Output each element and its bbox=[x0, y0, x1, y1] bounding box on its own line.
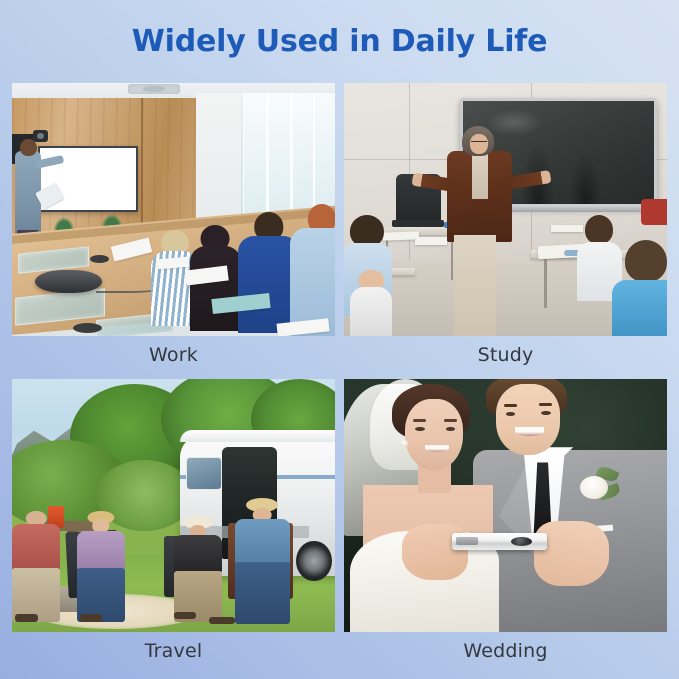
groom-hand bbox=[534, 521, 608, 586]
screen-reflection bbox=[570, 151, 601, 204]
caravan-roof bbox=[180, 430, 335, 443]
student-head bbox=[625, 240, 667, 282]
travel-photo bbox=[12, 379, 335, 632]
device-record-button-icon bbox=[511, 537, 532, 546]
student bbox=[612, 240, 667, 336]
camper-person bbox=[12, 511, 60, 622]
boutonniere bbox=[573, 465, 618, 505]
shoe bbox=[15, 614, 38, 622]
card-label-study: Study bbox=[344, 336, 667, 373]
video-conference-camera-icon bbox=[33, 130, 48, 143]
scenario-card-wedding[interactable]: Wedding bbox=[344, 379, 667, 669]
wedding-photo bbox=[344, 379, 667, 632]
scenario-card-study[interactable]: Study bbox=[344, 83, 667, 373]
card-label-wedding: Wedding bbox=[344, 632, 667, 669]
voice-recorder-device bbox=[452, 533, 547, 550]
bride-eyebrow bbox=[444, 419, 457, 422]
scenario-card-travel[interactable]: Travel bbox=[12, 379, 335, 669]
card-label-work: Work bbox=[12, 336, 335, 373]
bride-eyebrow bbox=[413, 419, 426, 422]
page-title: Widely Used in Daily Life bbox=[132, 24, 548, 59]
attendee bbox=[290, 204, 335, 336]
card-label-travel: Travel bbox=[12, 632, 335, 669]
shoe bbox=[80, 614, 103, 622]
open-book bbox=[415, 237, 447, 245]
desk-leg bbox=[544, 258, 547, 309]
scenario-grid: Work bbox=[0, 83, 679, 679]
groom-smile bbox=[515, 427, 544, 436]
teacher-trousers bbox=[454, 235, 496, 336]
person-torso bbox=[77, 531, 125, 571]
groom-eyebrow bbox=[539, 403, 552, 406]
person-torso bbox=[12, 524, 60, 571]
student-body bbox=[350, 287, 392, 336]
caravan-wheel bbox=[296, 541, 332, 581]
groom-face bbox=[496, 384, 561, 455]
glasses-icon bbox=[471, 141, 487, 145]
shoe bbox=[174, 612, 197, 620]
promo-page: Widely Used in Daily Life bbox=[0, 0, 679, 679]
camper-person bbox=[174, 516, 222, 622]
device-clip bbox=[456, 537, 479, 545]
backpack bbox=[641, 199, 667, 224]
presenter-head bbox=[20, 139, 36, 157]
person-legs bbox=[235, 562, 290, 624]
title-bar: Widely Used in Daily Life bbox=[0, 0, 679, 83]
shoe bbox=[209, 617, 235, 625]
person-torso bbox=[174, 535, 222, 573]
work-photo bbox=[12, 83, 335, 336]
camper-person bbox=[235, 498, 290, 625]
bride-face bbox=[405, 399, 463, 470]
table-microphone-icon bbox=[90, 255, 109, 263]
groom-eye bbox=[506, 412, 516, 416]
office-chair-arm bbox=[392, 220, 444, 228]
conference-speakerphone bbox=[35, 270, 103, 293]
study-photo bbox=[344, 83, 667, 336]
attendee-torso bbox=[190, 246, 242, 331]
scenario-card-work[interactable]: Work bbox=[12, 83, 335, 373]
screen-glare bbox=[486, 109, 543, 136]
student-body bbox=[612, 280, 667, 336]
student-head bbox=[585, 215, 613, 244]
groom-eyebrow bbox=[504, 404, 517, 407]
groom-eye bbox=[541, 411, 551, 415]
person-torso bbox=[235, 519, 290, 565]
white-rose bbox=[580, 476, 608, 499]
hands-holding-device bbox=[402, 521, 609, 597]
student bbox=[350, 270, 392, 336]
bride-eye bbox=[415, 427, 425, 431]
ceiling-vent-icon bbox=[128, 84, 180, 94]
caravan-window bbox=[186, 457, 222, 490]
camper-person bbox=[77, 511, 125, 622]
teacher-shirt bbox=[472, 154, 488, 200]
